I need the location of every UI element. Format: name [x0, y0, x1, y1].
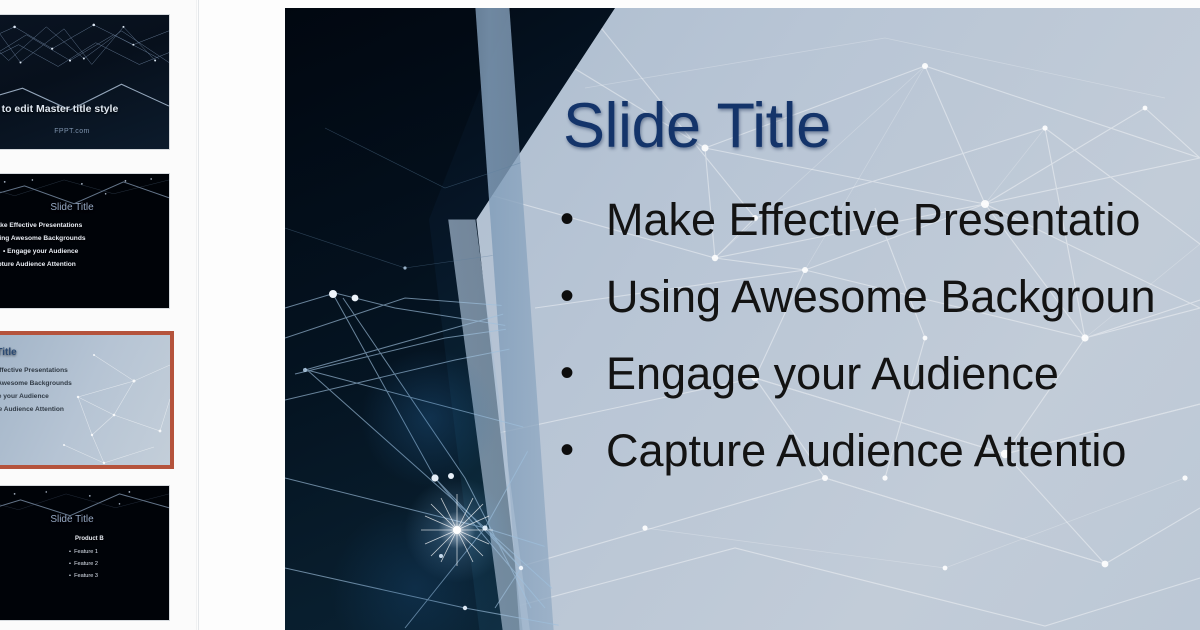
slide-thumbnail-2[interactable]: Slide Title Make Effective Presentations…	[0, 173, 170, 309]
slide-thumbnail-1[interactable]: ck to edit Master title style FPPT.com	[0, 14, 170, 150]
thumbnail-1-footer: FPPT.com	[0, 128, 169, 135]
thumbnail-2-line-3: • Engage your Audience	[3, 248, 78, 255]
slide-title[interactable]: Slide Title	[563, 90, 831, 162]
bullet-icon: •	[560, 193, 606, 245]
thumbnail-3-title: e Title	[0, 347, 170, 358]
slide-bullet-list[interactable]: • Make Effective Presentatio • Using Awe…	[560, 193, 1200, 501]
slide-canvas: Slide Title • Make Effective Presentatio…	[285, 8, 1200, 630]
thumbnail-3-line-4: apture Audience Attention	[0, 406, 64, 413]
thumbnail-4-col2-header: Product B	[75, 536, 104, 542]
slide-thumbnail-4[interactable]: Slide Title duct A ature 1 ature 2 ature…	[0, 485, 170, 621]
slide-thumbnail-3[interactable]: e Title ake Effective Presentations sing…	[0, 331, 174, 469]
thumbnail-4-canvas: Slide Title duct A ature 1 ature 2 ature…	[0, 486, 169, 620]
thumbnail-3-line-2: sing Awesome Backgrounds	[0, 380, 72, 387]
thumbnail-1-canvas: ck to edit Master title style FPPT.com	[0, 15, 169, 149]
slide-editing-surface[interactable]: Slide Title • Make Effective Presentatio…	[285, 8, 1200, 630]
slide-bullet-row-4[interactable]: • Capture Audience Attentio	[560, 424, 1200, 501]
slide-thumbnail-rail[interactable]: ck to edit Master title style FPPT.com S…	[0, 0, 196, 630]
slide-bullet-row-2[interactable]: • Using Awesome Backgroun	[560, 270, 1200, 347]
slide-bullet-text-4: Capture Audience Attentio	[606, 424, 1126, 478]
bullet-icon: •	[560, 347, 606, 399]
rail-divider	[198, 0, 199, 630]
star-burst-icon	[417, 490, 497, 570]
slide-bullet-text-3: Engage your Audience	[606, 347, 1059, 401]
thumbnail-2-line-1: Make Effective Presentations	[0, 222, 82, 229]
thumbnail-2-line-2: Using Awesome Backgrounds	[0, 235, 86, 242]
thumbnail-2-canvas: Slide Title Make Effective Presentations…	[0, 174, 169, 308]
thumbnail-3-line-3: ngage your Audience	[0, 393, 49, 400]
thumbnail-4-col2-feature-2: • Feature 2	[69, 561, 98, 567]
thumbnail-1-title: ck to edit Master title style	[0, 103, 161, 115]
bullet-icon: •	[560, 424, 606, 476]
slide-bullet-text-1: Make Effective Presentatio	[606, 193, 1140, 247]
rail-divider-light	[196, 0, 197, 630]
thumbnail-3-canvas: e Title ake Effective Presentations sing…	[0, 335, 170, 465]
slide-bullet-row-1[interactable]: • Make Effective Presentatio	[560, 193, 1200, 270]
thumbnail-2-title: Slide Title	[0, 202, 169, 213]
slide-bullet-row-3[interactable]: • Engage your Audience	[560, 347, 1200, 424]
thumbnail-4-col2-feature-3: • Feature 3	[69, 573, 98, 579]
slide-bullet-text-2: Using Awesome Backgroun	[606, 270, 1155, 324]
thumbnail-4-col2-feature-1: • Feature 1	[69, 549, 98, 555]
thumbnail-2-line-4: • Capture Audience Attention	[0, 261, 76, 268]
thumbnail-4-title: Slide Title	[0, 514, 169, 525]
thumbnail-3-line-1: ake Effective Presentations	[0, 367, 68, 374]
bullet-icon: •	[560, 270, 606, 322]
